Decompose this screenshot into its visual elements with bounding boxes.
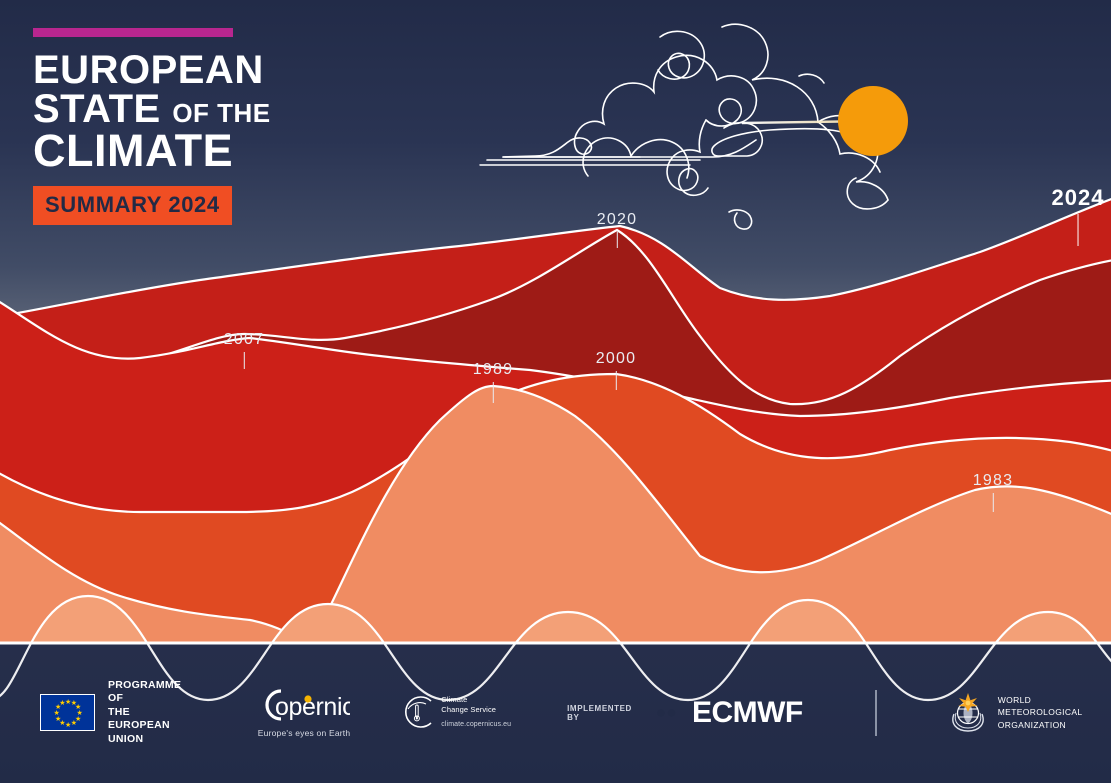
year-label-2024-text: 2024 <box>1052 185 1105 210</box>
wmo-globe-icon <box>947 692 989 734</box>
year-tick-2000 <box>616 371 617 390</box>
footer-divider <box>875 690 877 736</box>
svg-text:opernicus: opernicus <box>275 693 350 721</box>
year-label-1989-text: 1989 <box>473 361 513 378</box>
cloud-line-illustration <box>480 24 888 229</box>
eu-line-1: PROGRAMME OF <box>108 679 181 706</box>
title-block: EUROPEAN STATE OF THE CLIMATE SUMMARY 20… <box>33 28 453 225</box>
wmo-line-2: METEOROLOGICAL <box>998 706 1083 718</box>
logo-ecmwf: IMPLEMENTED BY ECMWF <box>567 696 803 730</box>
year-label-1989: 1989 <box>473 361 513 403</box>
year-label-1983: 1983 <box>973 472 1013 512</box>
year-label-1983-text: 1983 <box>973 472 1013 489</box>
copernicus-wordmark-icon: opernicus <box>253 688 350 722</box>
ecmwf-wordmark: ECMWF <box>692 696 803 730</box>
eu-flag-icon: ★★★★★★★★★★★★ <box>40 694 95 731</box>
implemented-by-label: IMPLEMENTED BY <box>567 704 637 722</box>
cloud-horizon-lines <box>487 123 845 160</box>
year-label-2020: 2020 <box>597 211 637 248</box>
eu-star-icon: ★ <box>59 700 65 707</box>
eu-programme-text: PROGRAMME OF THE EUROPEAN UNION <box>108 679 181 746</box>
logo-climate-change-service: Climate Change Service climate.copernicu… <box>400 695 511 731</box>
summary-badge: SUMMARY 2024 <box>33 186 232 225</box>
title-line-state-of-the: STATE OF THE <box>33 90 453 129</box>
year-tick-2007 <box>244 352 245 369</box>
wmo-line-1: WORLD <box>998 694 1083 706</box>
year-label-2000: 2000 <box>596 350 636 390</box>
c3s-text: Climate Change Service climate.copernicu… <box>441 695 511 731</box>
c3s-url: climate.copernicus.eu <box>441 720 511 730</box>
sun-icon <box>838 86 908 156</box>
year-tick-2020 <box>617 232 618 248</box>
logo-wmo: WORLD METEOROLOGICAL ORGANIZATION <box>947 692 1083 734</box>
cover-page: EUROPEAN STATE OF THE CLIMATE SUMMARY 20… <box>0 0 1111 783</box>
footer-logo-bar: ★★★★★★★★★★★★ PROGRAMME OF THE EUROPEAN U… <box>0 642 1111 783</box>
eu-line-2: THE EUROPEAN UNION <box>108 706 181 746</box>
title-of-the: OF THE <box>172 98 270 128</box>
wmo-text: WORLD METEOROLOGICAL ORGANIZATION <box>998 694 1083 730</box>
c3s-line-2: Change Service <box>441 705 511 716</box>
logo-copernicus: opernicus Europe's eyes on Earth <box>253 688 350 738</box>
year-tick-1989 <box>493 382 494 403</box>
logo-european-union: ★★★★★★★★★★★★ PROGRAMME OF THE EUROPEAN U… <box>40 679 181 746</box>
year-label-2007-text: 2007 <box>224 331 264 348</box>
c3s-line-1: Climate <box>441 695 511 706</box>
year-tick-2024 <box>1077 214 1078 246</box>
wmo-line-3: ORGANIZATION <box>998 719 1083 731</box>
year-label-2000-text: 2000 <box>596 350 636 367</box>
eu-star-icon: ★ <box>71 720 77 727</box>
accent-bar <box>33 28 233 37</box>
year-tick-1983 <box>993 493 994 512</box>
year-label-2020-text: 2020 <box>597 211 637 228</box>
year-label-2007: 2007 <box>224 331 264 369</box>
year-label-2024: 2024 <box>1052 185 1105 246</box>
title-line-climate: CLIMATE <box>33 129 453 173</box>
copernicus-tagline: Europe's eyes on Earth <box>253 728 350 738</box>
ecmwf-mark-icon <box>646 700 686 726</box>
title-line-european: EUROPEAN <box>33 51 453 90</box>
thermometer-circle-icon <box>400 695 434 729</box>
